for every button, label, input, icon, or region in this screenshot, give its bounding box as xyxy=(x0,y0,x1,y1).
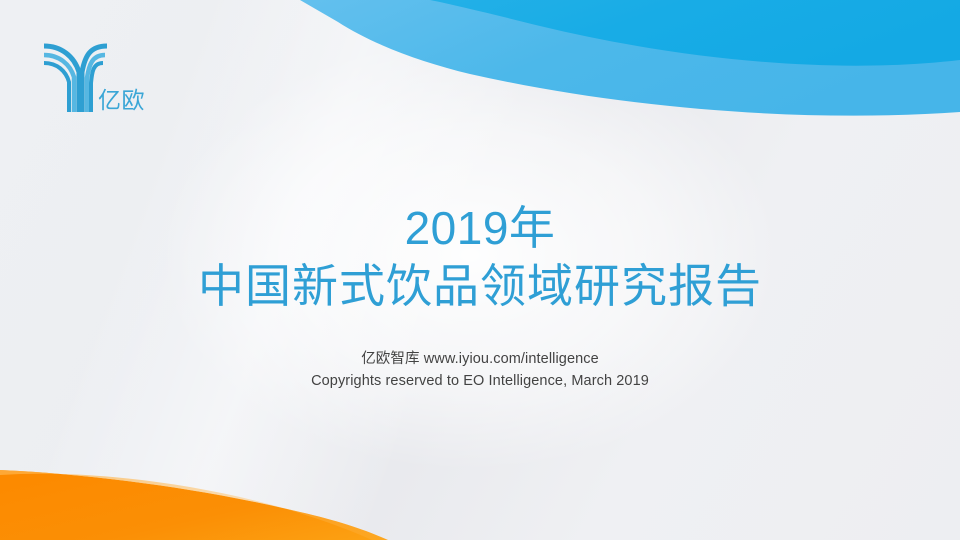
wave-blue-bright xyxy=(430,0,960,66)
eo-intelligence-logo: 亿欧 xyxy=(41,36,149,114)
credit-copyright-line: Copyrights reserved to EO Intelligence, … xyxy=(0,370,960,393)
credit-source-line: 亿欧智库 www.iyiou.com/intelligence xyxy=(0,348,960,370)
wave-blue-light xyxy=(300,0,960,116)
credits-block: 亿欧智库 www.iyiou.com/intelligence Copyrigh… xyxy=(0,348,960,393)
report-cover-slide: 亿欧 2019年 中国新式饮品领域研究报告 亿欧智库 www.iyiou.com… xyxy=(0,0,960,540)
title-line-year: 2019年 xyxy=(0,199,960,257)
title-line-main: 中国新式饮品领域研究报告 xyxy=(0,257,960,315)
title-block: 2019年 中国新式饮品领域研究报告 xyxy=(0,199,960,315)
yiou-tree-logo-icon: 亿欧 xyxy=(41,36,149,114)
wave-orange xyxy=(0,470,388,540)
logo-wordmark: 亿欧 xyxy=(98,87,145,113)
wave-orange-highlight xyxy=(0,470,388,540)
